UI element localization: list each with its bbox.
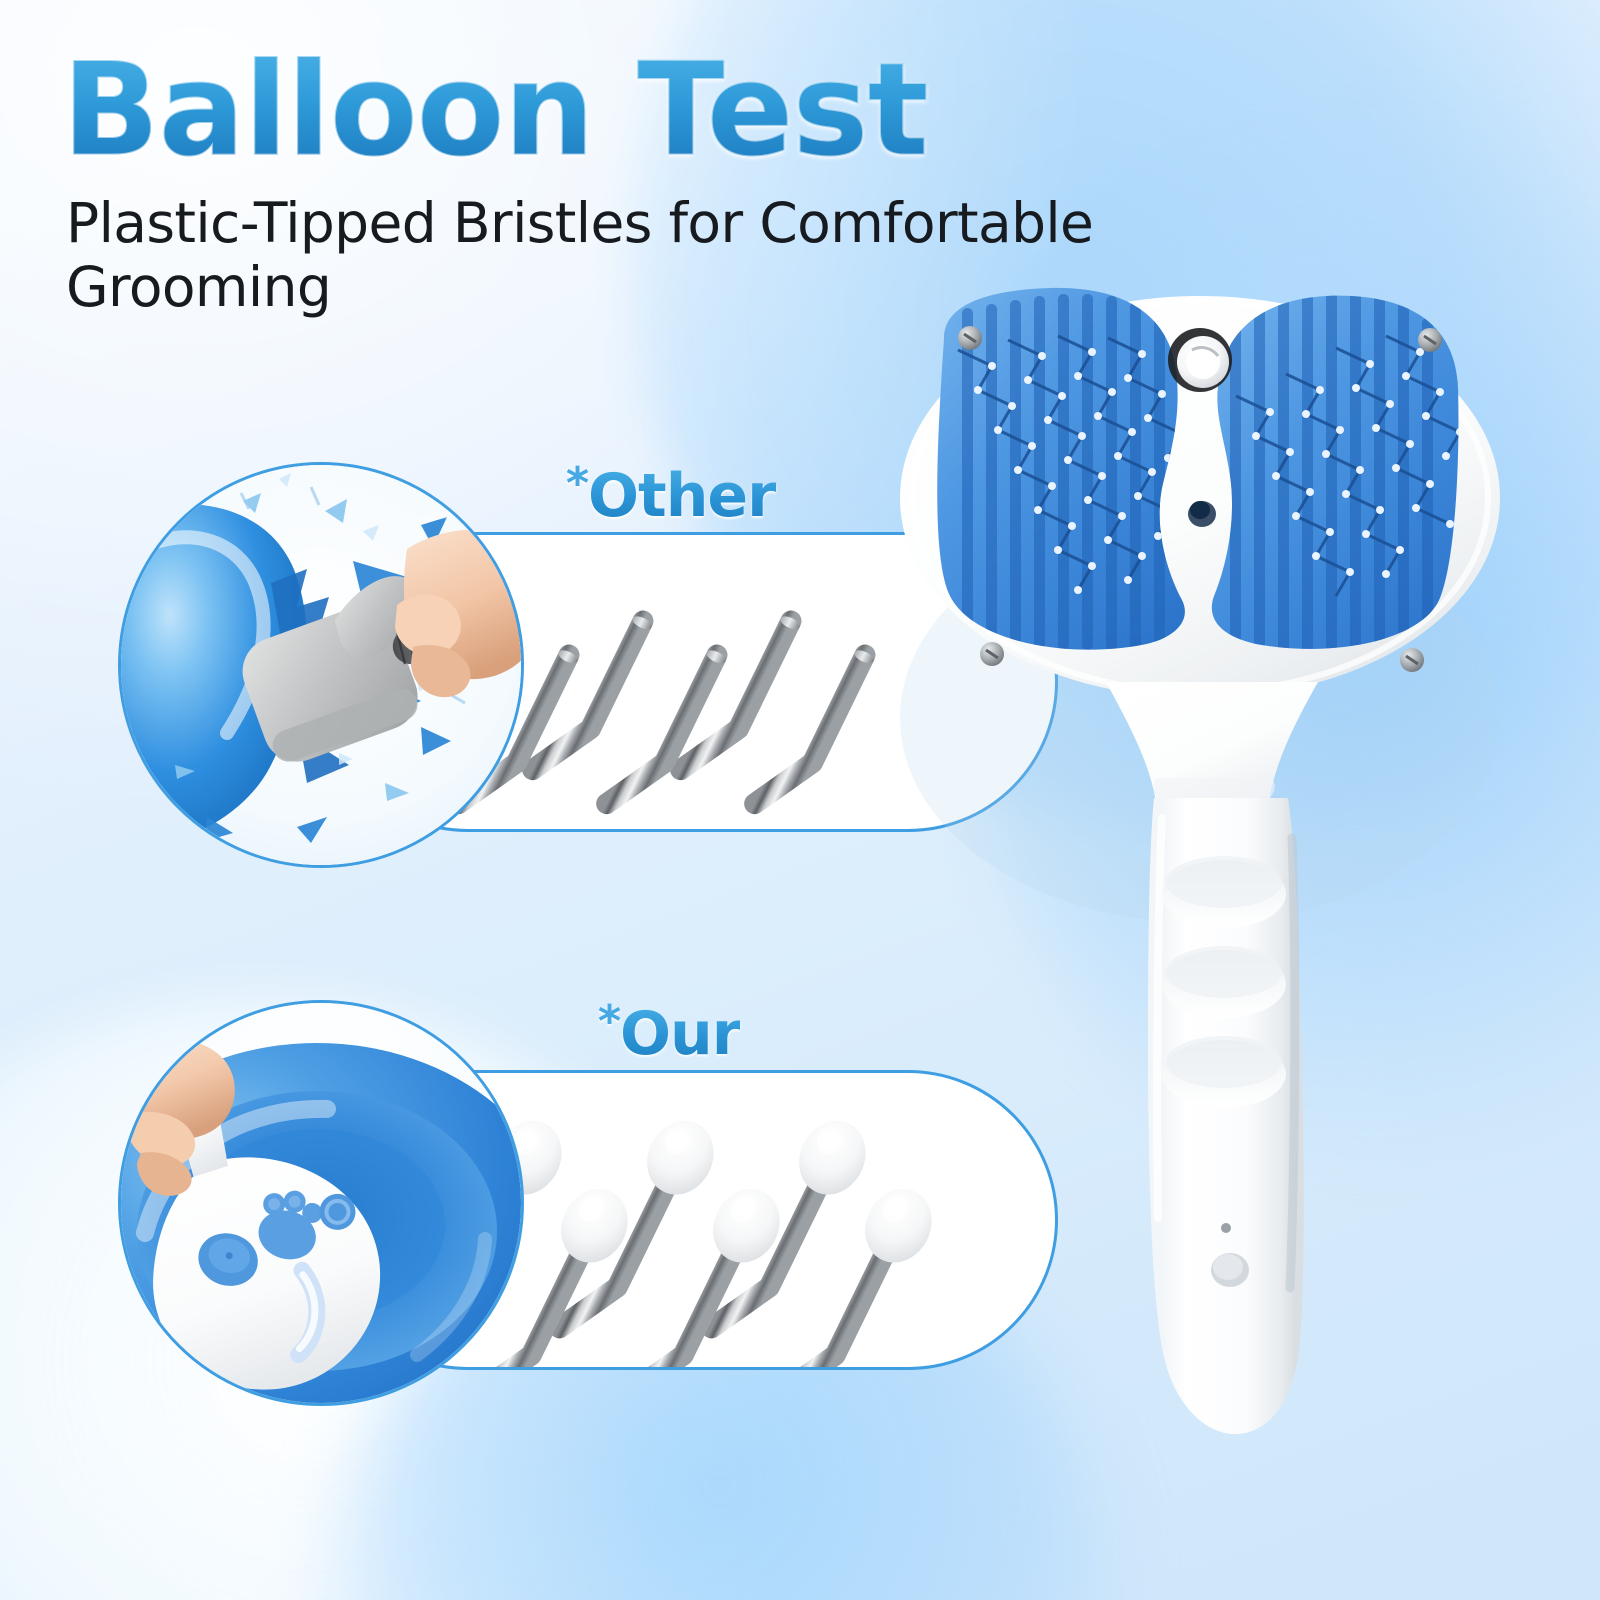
other-label-asterisk: * <box>566 458 588 509</box>
our-label: *Our <box>598 996 740 1069</box>
our-photo-circle <box>118 1000 524 1406</box>
handle-pinhole <box>1221 1223 1231 1233</box>
infographic-canvas: Balloon Test Plastic-Tipped Bristles for… <box>0 0 1600 1600</box>
our-label-asterisk: * <box>598 996 620 1047</box>
page-title: Balloon Test <box>62 46 1322 177</box>
other-label: *Other <box>566 458 776 531</box>
pad-slots-right <box>1230 290 1433 668</box>
other-photo-circle <box>118 462 524 868</box>
pet-grooming-brush-illustration <box>900 278 1520 1468</box>
pad-slots-left <box>962 294 1165 658</box>
gray-brush-popping-balloon-photo <box>121 465 521 865</box>
other-label-text: Other <box>588 461 776 531</box>
white-brush-pressing-intact-balloon-photo <box>121 1003 521 1403</box>
handle-grip-indents <box>1162 856 1286 1108</box>
self-cleaning-button[interactable] <box>1168 328 1232 392</box>
product-photo <box>900 278 1520 1468</box>
our-label-text: Our <box>620 999 740 1069</box>
